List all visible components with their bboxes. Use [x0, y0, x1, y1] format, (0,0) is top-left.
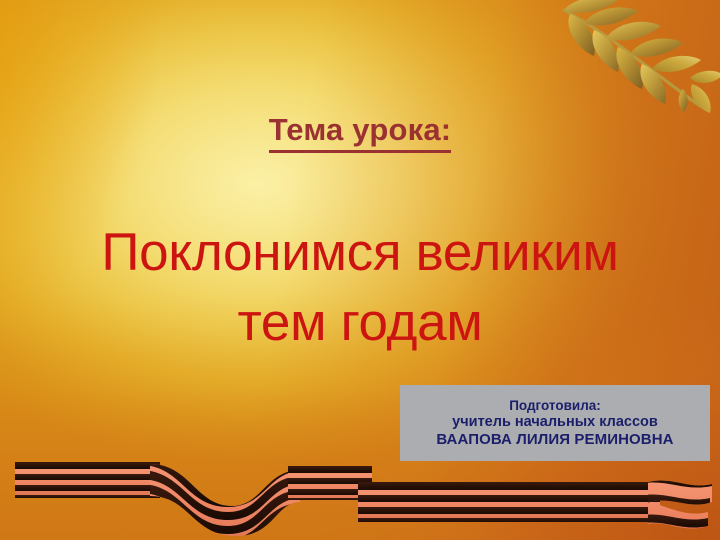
lesson-topic-label: Тема урока: [0, 112, 720, 148]
ribbon-tail-end [640, 470, 720, 540]
page-title: Поклонимся великим тем годам [0, 218, 720, 358]
presentation-slide: Тема урока: Поклонимся великим тем годам… [0, 0, 720, 540]
author-role-label: учитель начальных классов [452, 414, 658, 431]
ribbon-segment-right [350, 482, 680, 523]
author-prepared-by-label: Подготовила: [509, 398, 601, 414]
page-title-line-2: тем годам [0, 288, 720, 358]
lesson-topic-label-text: Тема урока: [269, 112, 452, 153]
page-title-line-1: Поклонимся великим [0, 218, 720, 288]
st-george-ribbon-icon [0, 440, 720, 540]
laurel-branch-icon [540, 0, 720, 114]
